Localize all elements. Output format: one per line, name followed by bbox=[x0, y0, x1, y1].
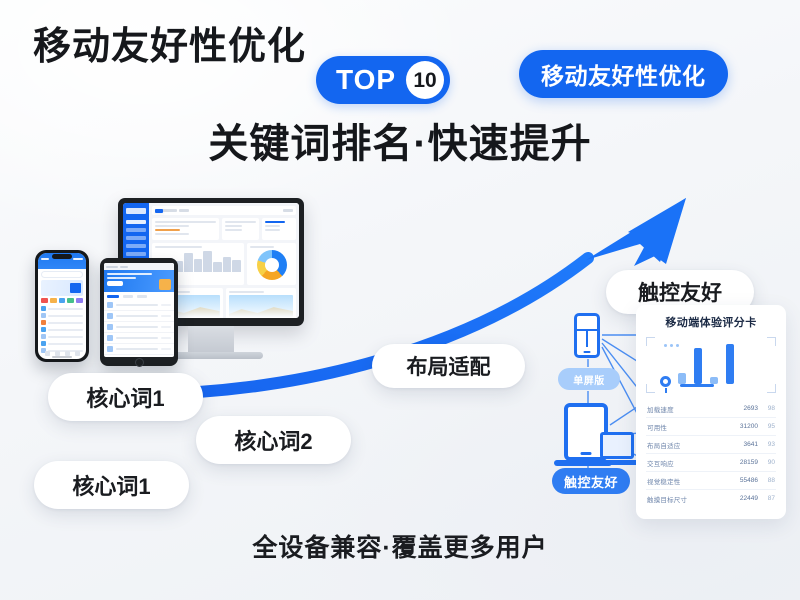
scorecard-row: 触摸目标尺寸 22449 87 bbox=[646, 490, 776, 507]
scorecard-row-name: 交互响应 bbox=[647, 458, 731, 468]
phone-mockup bbox=[35, 250, 89, 362]
dashboard-nav-item bbox=[126, 252, 146, 256]
tablet-list-item bbox=[104, 333, 174, 344]
keyword-pill-2[interactable]: 核心词2 bbox=[196, 416, 351, 464]
scorecard-bars bbox=[662, 340, 762, 384]
illus-tag-top: 单屏版 bbox=[558, 368, 620, 390]
area-chart bbox=[229, 295, 294, 317]
dashboard-donut-chart bbox=[247, 243, 296, 285]
keyword-pill-1[interactable]: 核心词1 bbox=[48, 373, 203, 421]
scorecard-row-score: 87 bbox=[763, 495, 775, 502]
scorecard-bar bbox=[710, 377, 718, 384]
scorecard-title: 移动端体验评分卡 bbox=[646, 314, 776, 330]
footer-caption: 全设备兼容·覆盖更多用户 bbox=[0, 528, 800, 564]
scorecard-row-name: 触摸目标尺寸 bbox=[647, 494, 731, 504]
phone-promo-banner bbox=[41, 280, 83, 296]
dashboard-nav-item bbox=[126, 228, 146, 232]
scorecard-row-name: 视觉稳定性 bbox=[647, 476, 731, 486]
phone-list-item bbox=[38, 319, 86, 326]
scorecard-row-value: 22449 bbox=[736, 495, 758, 502]
scorecard-row-score: 93 bbox=[763, 441, 775, 448]
scorecard-bar bbox=[678, 373, 686, 384]
dashboard-card bbox=[222, 218, 259, 240]
donut-chart bbox=[257, 250, 287, 280]
scorecard-row-value: 3641 bbox=[736, 441, 758, 448]
phone-search-bar bbox=[41, 271, 83, 278]
keyword-pill-3[interactable]: 核心词1 bbox=[34, 461, 189, 509]
layout-adaptation-pill[interactable]: 布局适配 bbox=[372, 344, 525, 388]
dashboard-topbar bbox=[152, 206, 296, 215]
tablet-list-item bbox=[104, 300, 174, 311]
tablet-mockup bbox=[100, 258, 178, 366]
scorecard-row-score: 95 bbox=[763, 423, 775, 430]
scorecard-row-value: 55486 bbox=[736, 477, 758, 484]
phone-list-item bbox=[38, 333, 86, 340]
phone-icon-row bbox=[38, 298, 86, 305]
phone-notch bbox=[52, 254, 72, 259]
phone-list-item bbox=[38, 340, 86, 347]
illus-phone-icon bbox=[574, 313, 600, 358]
tablet-banner-icon bbox=[159, 279, 171, 290]
tablet-list-item bbox=[104, 355, 174, 357]
illus-device-stand bbox=[554, 460, 612, 466]
scorecard-row-value: 2693 bbox=[736, 405, 758, 412]
scorecard-row-name: 加载速度 bbox=[647, 404, 731, 414]
tablet-bezel bbox=[100, 258, 178, 366]
dashboard-nav-item bbox=[126, 236, 146, 240]
tablet-home-button bbox=[135, 358, 144, 367]
dashboard-nav-item bbox=[126, 220, 146, 224]
phone-list-item bbox=[38, 305, 86, 312]
scorecard-row-score: 90 bbox=[763, 459, 775, 466]
tablet-screen bbox=[104, 263, 174, 357]
scorecard-row-name: 可用性 bbox=[647, 422, 731, 432]
poster-canvas: 移动友好性优化 TOP 10 移动友好性优化 关键词排名·快速提升 bbox=[0, 0, 800, 600]
tablet-tabs bbox=[104, 292, 174, 300]
phone-bezel bbox=[35, 250, 89, 362]
device-linkage-illustration: 单屏版 触控友好 移动端体验评分卡 bbox=[548, 305, 792, 520]
dashboard-card bbox=[262, 218, 296, 240]
scorecard-row-value: 31200 bbox=[736, 423, 758, 430]
scorecard-row: 加载速度 2693 98 bbox=[646, 400, 776, 418]
scorecard-bar bbox=[726, 344, 734, 384]
phone-home-indicator bbox=[52, 356, 72, 358]
phone-list-item bbox=[38, 326, 86, 333]
tablet-banner bbox=[104, 270, 174, 292]
dashboard-row bbox=[152, 218, 296, 240]
dashboard-logo bbox=[126, 208, 146, 214]
phone-screen bbox=[38, 253, 86, 359]
tablet-list-item bbox=[104, 322, 174, 333]
tablet-banner-button bbox=[107, 281, 123, 286]
scorecard-row-score: 98 bbox=[763, 405, 775, 412]
monitor-stand bbox=[188, 326, 234, 352]
scorecard-row-value: 28159 bbox=[736, 459, 758, 466]
scorecard-row: 交互响应 28159 90 bbox=[646, 454, 776, 472]
tablet-statusbar bbox=[104, 263, 174, 270]
phone-list-item bbox=[38, 312, 86, 319]
scorecard-row: 视觉稳定性 55486 88 bbox=[646, 472, 776, 490]
scorecard-row: 可用性 31200 95 bbox=[646, 418, 776, 436]
dashboard-card bbox=[152, 218, 219, 240]
scorecard-row-name: 布局自适应 bbox=[647, 440, 731, 450]
scorecard-baseline bbox=[680, 384, 714, 387]
scorecard-row-score: 88 bbox=[763, 477, 775, 484]
mobile-experience-scorecard: 移动端体验评分卡 加载速度 2693 98 bbox=[636, 305, 786, 519]
phone-promo-tag bbox=[70, 283, 81, 293]
tablet-list-item bbox=[104, 344, 174, 355]
illus-tag-bottom: 触控友好 bbox=[552, 468, 630, 494]
scorecard-row: 布局自适应 3641 93 bbox=[646, 436, 776, 454]
scorecard-pin-icon bbox=[660, 376, 671, 387]
tablet-list-item bbox=[104, 311, 174, 322]
dashboard-area-chart bbox=[226, 288, 297, 318]
scorecard-bar bbox=[694, 348, 702, 384]
scorecard-chart bbox=[646, 337, 776, 393]
dashboard-nav-item bbox=[126, 244, 146, 248]
